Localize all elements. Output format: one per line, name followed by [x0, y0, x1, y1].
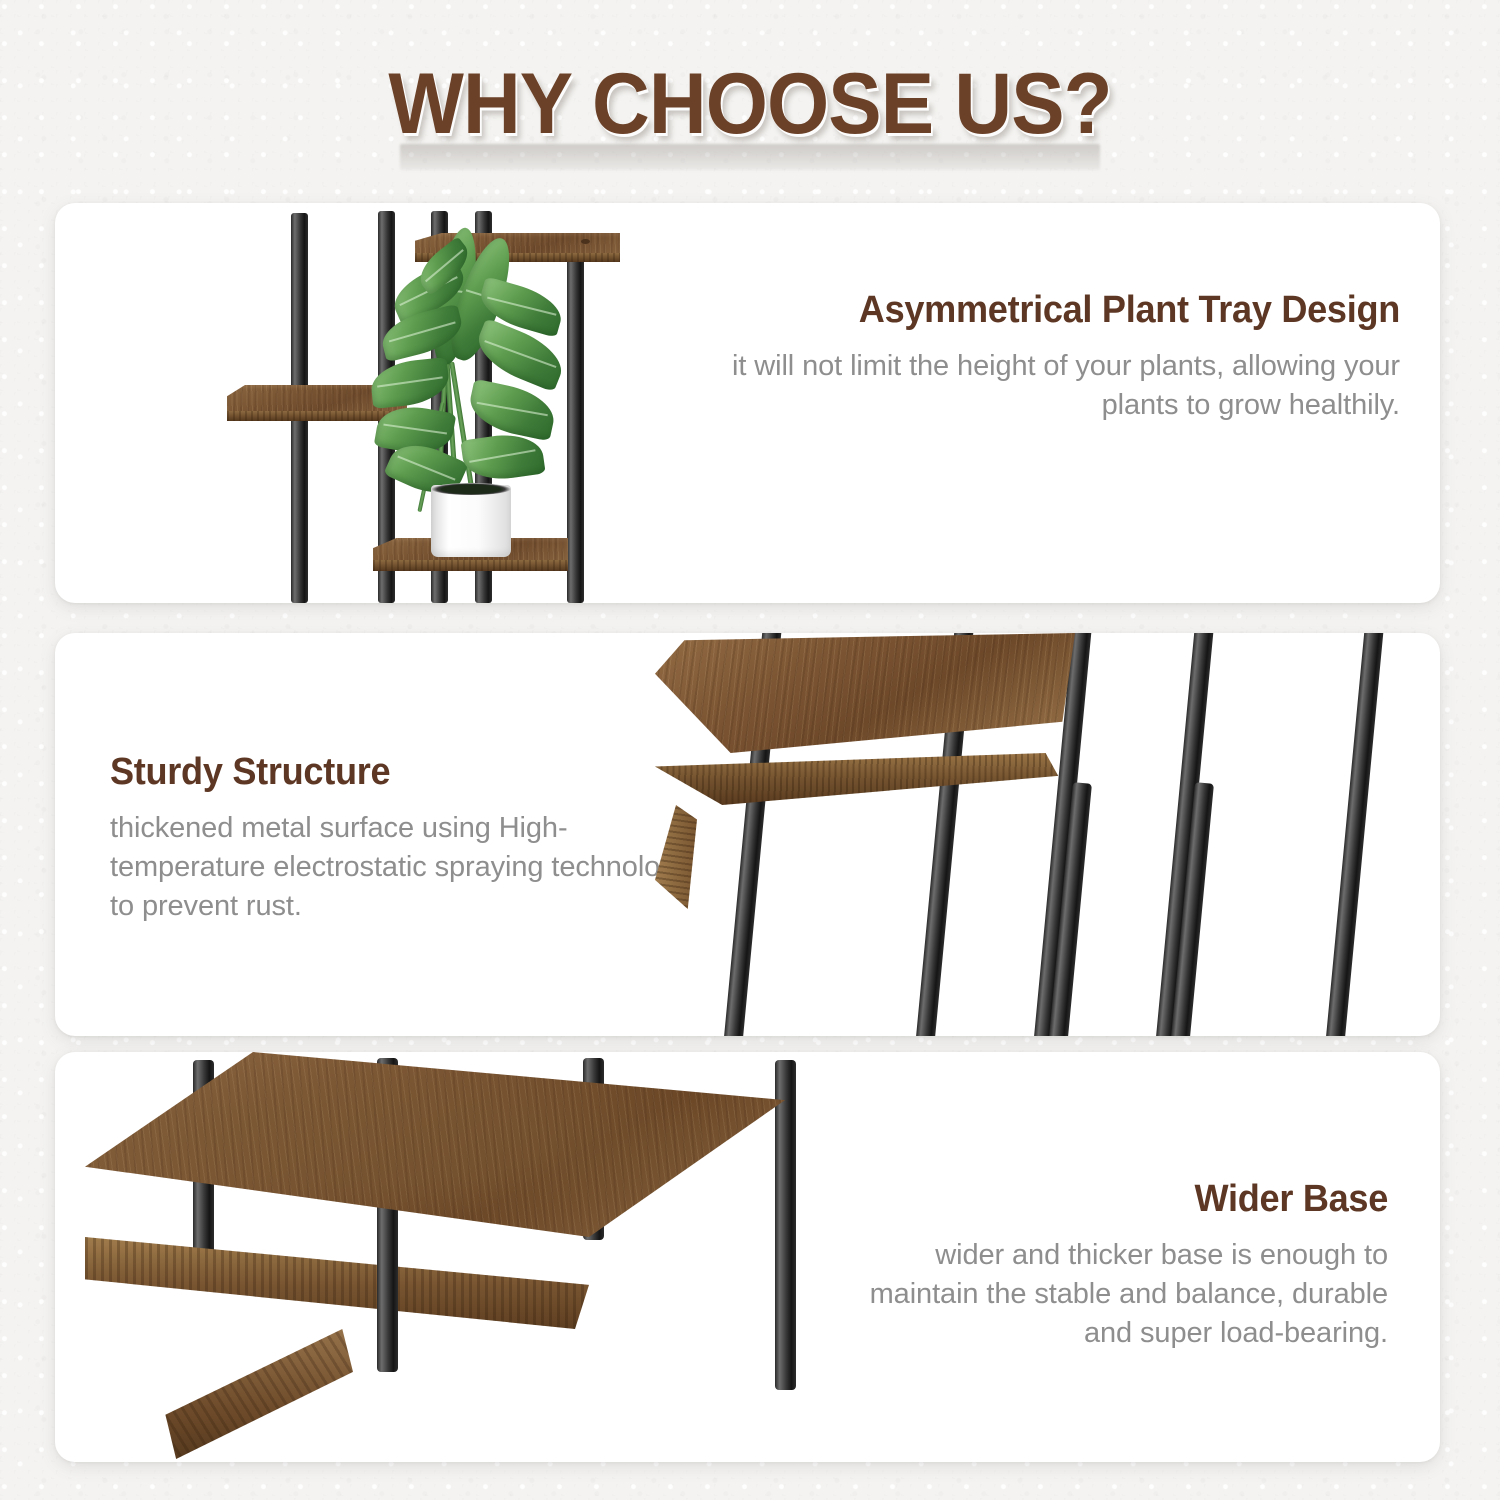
- product-photo-base-closeup: [85, 1052, 905, 1462]
- feature-text-block: Wider Base wider and thicker base is eno…: [828, 1180, 1388, 1352]
- feature-title: Sturdy Structure: [110, 753, 680, 793]
- wooden-base-surface: [85, 1052, 785, 1237]
- feature-card-asymmetrical-plant-tray-design: Asymmetrical Plant Tray Design it will n…: [55, 203, 1440, 603]
- feature-title: Asymmetrical Plant Tray Design: [754, 291, 1400, 331]
- metal-pole-front: [775, 1232, 796, 1347]
- page-title: WHY CHOOSE US?: [53, 62, 1448, 146]
- wooden-shelf-front-edge: [655, 753, 1075, 805]
- feature-body: thickened metal surface using High-tempe…: [110, 809, 710, 926]
- feature-text-block: Sturdy Structure thickened metal surface…: [110, 753, 710, 925]
- plant-pot-rim: [431, 483, 511, 495]
- page-header: WHY CHOOSE US?: [0, 62, 1500, 177]
- feature-text-block: Asymmetrical Plant Tray Design it will n…: [720, 291, 1400, 425]
- plant-pot: [431, 485, 511, 557]
- feature-title: Wider Base: [856, 1180, 1388, 1220]
- wooden-shelf-surface: [655, 633, 1075, 753]
- metal-pole: [1326, 633, 1384, 1036]
- plant-leaf: [369, 357, 451, 409]
- product-photo-plant-stand: [203, 203, 663, 603]
- feature-body: wider and thicker base is enough to main…: [828, 1236, 1388, 1353]
- feature-body: it will not limit the height of your pla…: [720, 347, 1400, 425]
- wooden-base-right-edge: [85, 1329, 353, 1459]
- wooden-base-front-edge: [85, 1237, 785, 1329]
- feature-card-wider-base: Wider Base wider and thicker base is eno…: [55, 1052, 1440, 1462]
- metal-pole-front: [377, 1242, 398, 1372]
- product-photo-shelf-closeup: [655, 633, 1440, 1036]
- wooden-shelf-bottom-edge: [373, 560, 568, 571]
- wooden-shelf-side-edge: [655, 805, 697, 909]
- feature-card-sturdy-structure: Sturdy Structure thickened metal surface…: [55, 633, 1440, 1036]
